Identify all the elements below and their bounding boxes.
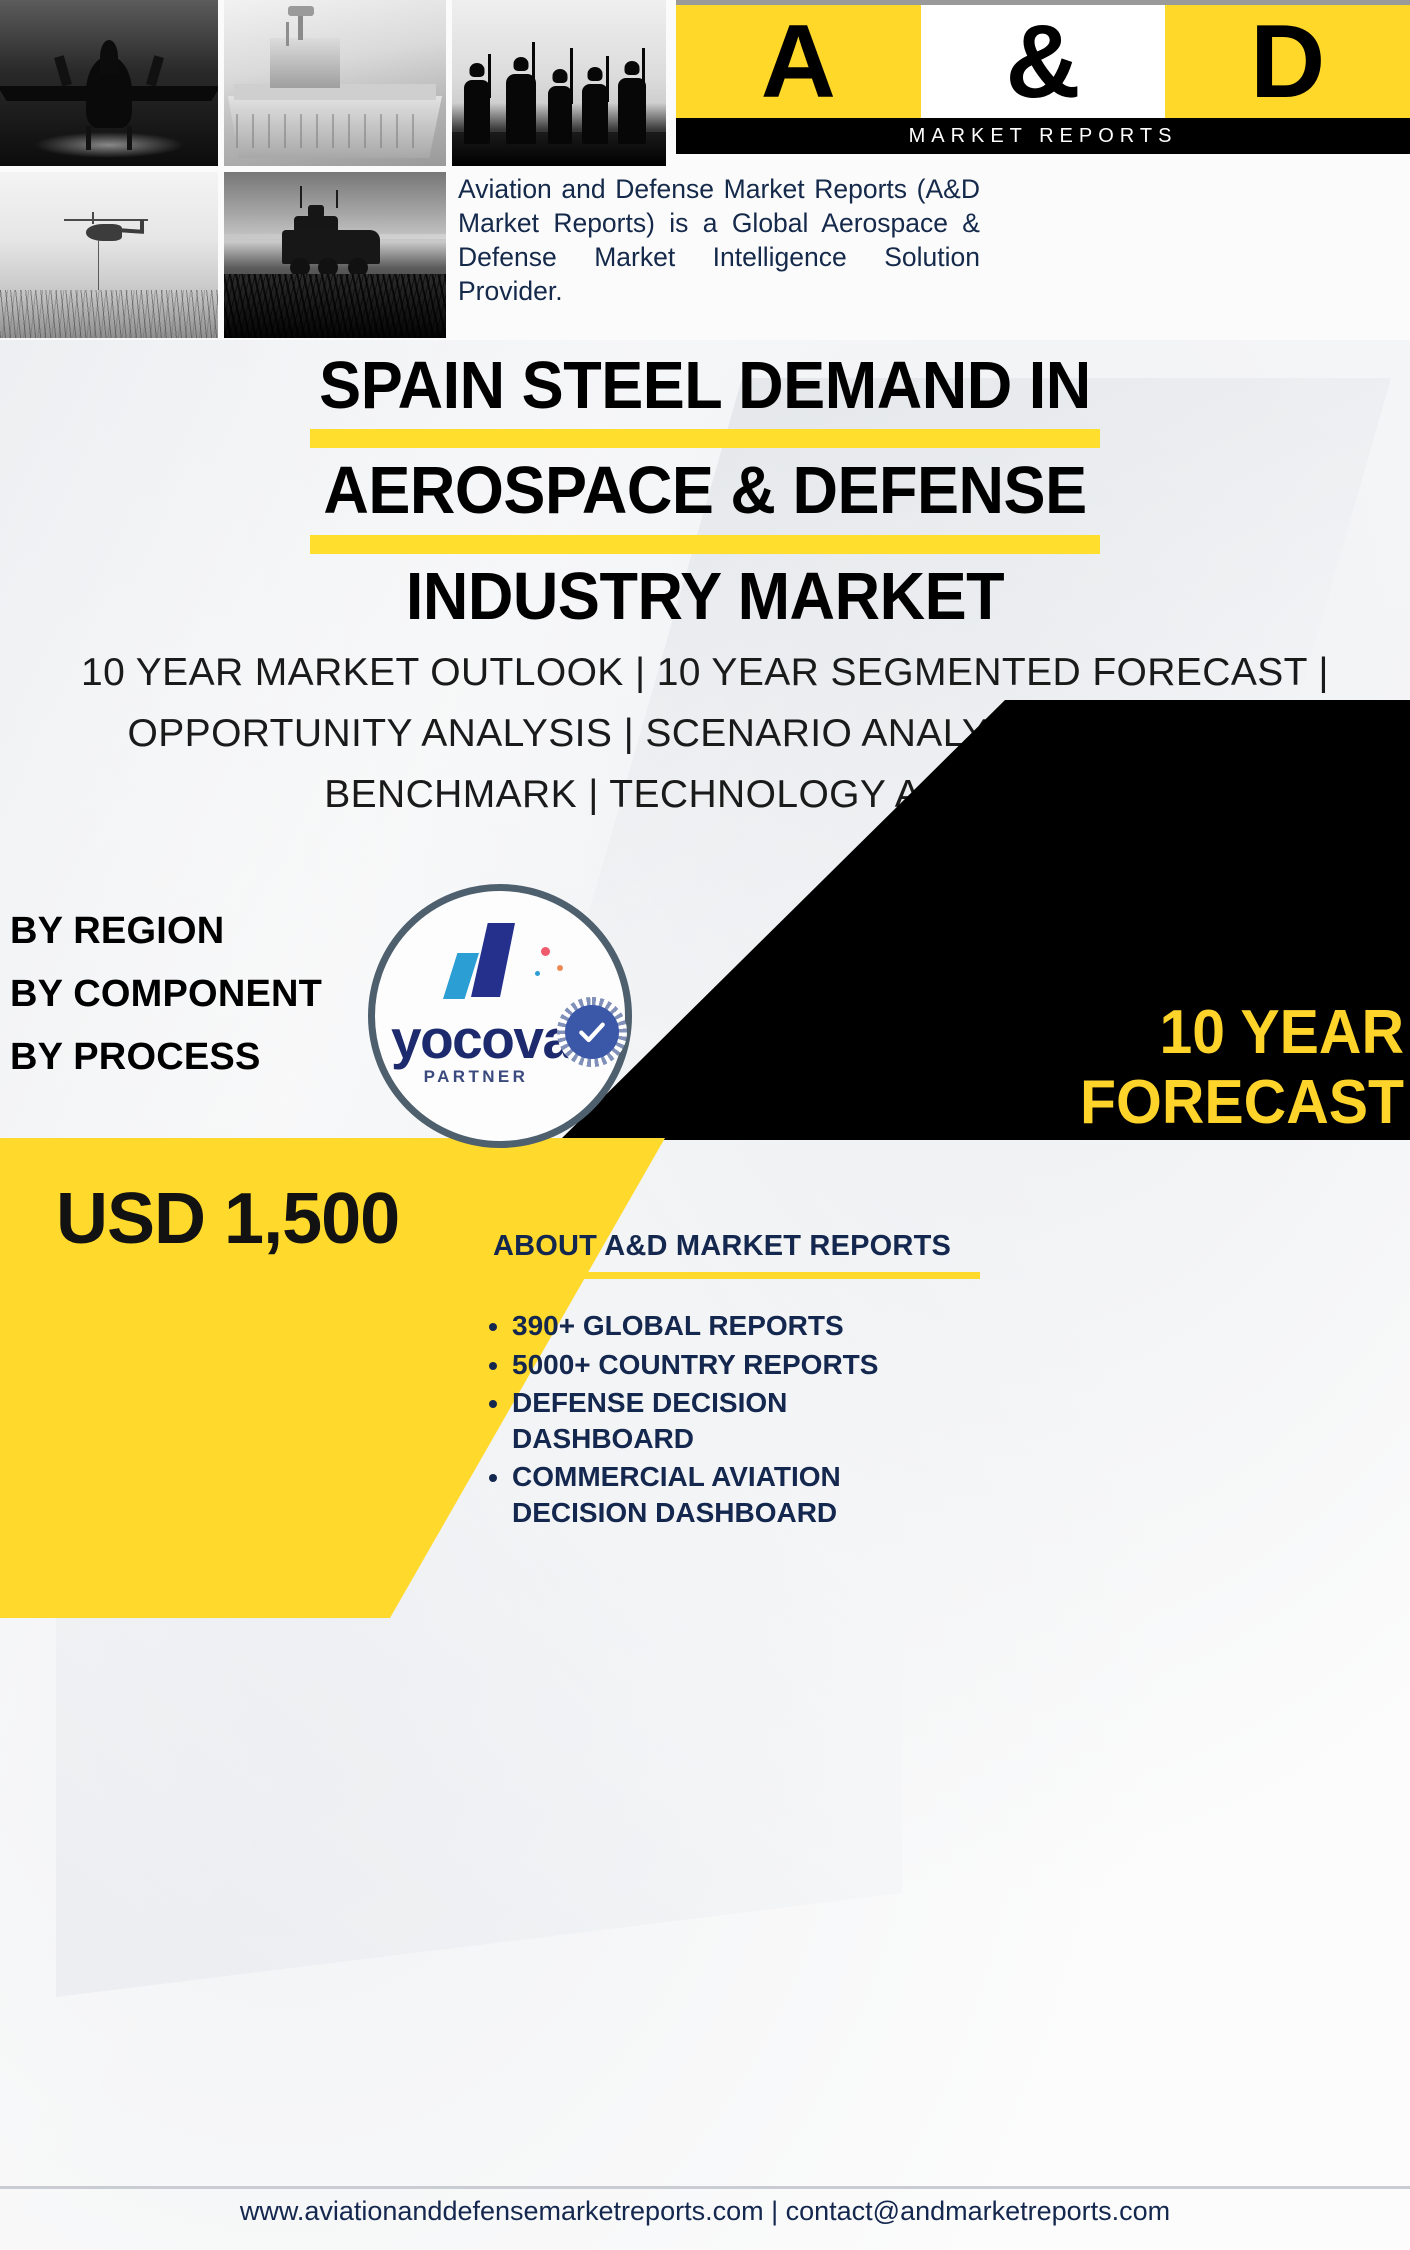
- soldier-figure: [464, 80, 490, 144]
- segment-by-region: BY REGION: [10, 900, 322, 963]
- jet-left-tail: [54, 56, 72, 88]
- photo-fighter-jet: [0, 0, 218, 166]
- vehicle-antenna: [336, 190, 338, 208]
- jet-left-gear: [86, 126, 91, 150]
- footer-divider: [0, 2186, 1410, 2189]
- page-title: SPAIN STEEL DEMAND IN AEROSPACE & DEFENS…: [0, 352, 1410, 631]
- forecast-line-2: FORECAST: [739, 1068, 1404, 1138]
- about-bullet: 5000+ COUNTRY REPORTS: [512, 1347, 956, 1383]
- photo-soldiers: [452, 0, 666, 166]
- field-grass: [0, 290, 218, 338]
- photo-helicopter: [0, 172, 218, 338]
- vehicle-ground: [224, 274, 446, 338]
- verified-badge-icon: [557, 997, 627, 1067]
- segment-by-component: BY COMPONENT: [10, 963, 322, 1026]
- carrier-island: [270, 38, 340, 88]
- forecast-line-1: 10 YEAR: [739, 998, 1404, 1068]
- yocova-partner-badge[interactable]: yocova PARTNER: [368, 884, 632, 1148]
- segmentation-list: BY REGION BY COMPONENT BY PROCESS: [10, 900, 322, 1089]
- jet-nose: [100, 40, 118, 74]
- about-bullet-list: 390+ GLOBAL REPORTS 5000+ COUNTRY REPORT…: [486, 1308, 956, 1533]
- logo-tagline-bar: MARKET REPORTS: [676, 118, 1410, 154]
- jet-right-tail: [146, 56, 164, 88]
- soldier-figure: [618, 78, 646, 144]
- brand-logo[interactable]: A & D MARKET REPORTS: [676, 0, 1410, 154]
- helicopter-body: [86, 224, 122, 241]
- logo-letter-row: A & D: [676, 5, 1410, 118]
- title-highlight-bar-2: [310, 535, 1100, 554]
- carrier-radar: [288, 6, 314, 16]
- yocova-accent-dot: [541, 947, 550, 956]
- price-value: USD 1,500: [56, 1178, 399, 1260]
- checkmark-icon: [576, 1016, 608, 1048]
- footer-contact[interactable]: www.aviationanddefensemarketreports.com …: [0, 2196, 1410, 2227]
- about-bullet: DEFENSE DECISION DASHBOARD: [512, 1385, 956, 1456]
- jet-afterburner-glow: [34, 132, 184, 158]
- yocova-accent-dot: [535, 971, 540, 976]
- about-heading: ABOUT A&D MARKET REPORTS: [462, 1230, 982, 1263]
- logo-letter-ampersand: &: [921, 5, 1166, 118]
- about-underline: [462, 1272, 980, 1279]
- about-bullet: COMMERCIAL AVIATION DECISION DASHBOARD: [512, 1459, 956, 1530]
- yocova-wordmark: yocova: [391, 1007, 561, 1071]
- yocova-accent-dot: [557, 965, 563, 971]
- logo-letter-d: D: [1165, 5, 1410, 118]
- soldier-figure: [506, 74, 536, 144]
- logo-tagline-text: MARKET REPORTS: [909, 125, 1178, 148]
- helicopter-rotor-mast: [92, 212, 94, 224]
- title-line-1: SPAIN STEEL DEMAND IN: [42, 352, 1367, 420]
- title-highlight-bar-1: [310, 429, 1100, 448]
- yocova-partner-label: PARTNER: [391, 1067, 561, 1087]
- carrier-hull-detail: [236, 114, 426, 148]
- segment-by-process: BY PROCESS: [10, 1026, 322, 1089]
- title-line-3: INDUSTRY MARKET: [42, 563, 1367, 631]
- soldier-figure: [548, 86, 572, 144]
- title-line-2: AEROSPACE & DEFENSE: [42, 457, 1367, 525]
- logo-letter-a: A: [676, 5, 921, 118]
- soldier-figure: [582, 84, 608, 144]
- helicopter-tail-fin: [140, 220, 144, 233]
- photo-armored-vehicle: [224, 172, 446, 338]
- photo-aircraft-carrier: [224, 0, 446, 166]
- forecast-callout: 10 YEAR FORECAST: [739, 998, 1404, 1138]
- carrier-secondary-mast: [286, 22, 289, 46]
- about-bullet: 390+ GLOBAL REPORTS: [512, 1308, 956, 1344]
- vehicle-antenna: [300, 186, 302, 208]
- yocova-chevron-icon: [441, 923, 527, 1003]
- jet-right-gear: [127, 126, 132, 150]
- intro-paragraph: Aviation and Defense Market Reports (A&D…: [458, 172, 980, 308]
- helicopter-main-rotor: [64, 219, 148, 221]
